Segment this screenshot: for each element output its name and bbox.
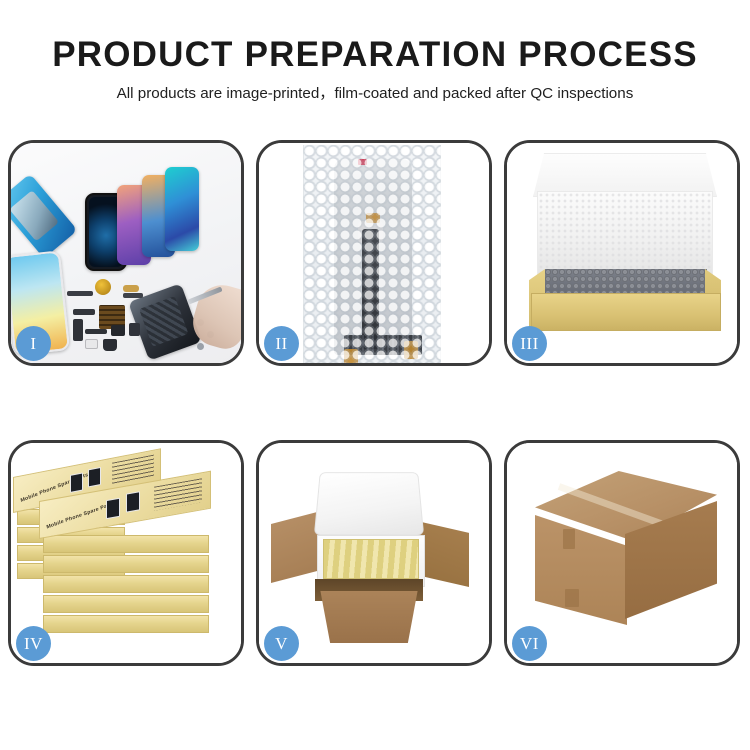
step-badge-1: I xyxy=(16,326,51,361)
kraft-box-front xyxy=(531,293,721,331)
step-panel-5: V xyxy=(256,440,492,666)
step-panel-3: III xyxy=(504,140,740,366)
lid-screen-thumb-2b xyxy=(126,491,140,512)
screw-part-c xyxy=(197,343,204,350)
page-subtitle: All products are image-printed，film-coat… xyxy=(0,84,750,104)
speaker-part xyxy=(129,323,140,336)
step-badge-3: III xyxy=(512,326,547,361)
step-panel-6: VI xyxy=(504,440,740,666)
sim-tray-part xyxy=(85,339,98,349)
bubble-texture-overlay xyxy=(303,145,441,363)
stack-box-right-3 xyxy=(43,575,209,593)
lid-screen-thumb-1a xyxy=(70,472,83,493)
white-foam-sheet-image xyxy=(537,191,713,275)
box-label-text-2: Mobile Phone Spare Parts xyxy=(46,501,115,531)
styrofoam-lid-image xyxy=(314,472,424,535)
lid-screen-thumb-2a xyxy=(106,498,120,519)
lid-spec-lines-2 xyxy=(154,478,202,510)
carton-front-panel xyxy=(315,591,423,643)
yellow-boxes-inside-image xyxy=(323,539,419,579)
gold-coil-part xyxy=(95,279,111,295)
carton-tape-bottom xyxy=(565,589,579,607)
gold-connector-part xyxy=(123,285,139,292)
step-badge-6: VI xyxy=(512,626,547,661)
stack-box-right-4 xyxy=(43,595,209,613)
lid-screen-thumb-1b xyxy=(88,467,101,488)
flex-cable-part xyxy=(67,291,93,296)
step-badge-2: II xyxy=(264,326,299,361)
ribbon-cable-part xyxy=(73,309,95,315)
product-preparation-infographic: PRODUCT PREPARATION PROCESS All products… xyxy=(0,0,750,750)
taptic-part xyxy=(103,339,117,351)
stack-box-right-5 xyxy=(43,615,209,633)
step-badge-5: V xyxy=(264,626,299,661)
step-panel-1: I xyxy=(8,140,244,366)
carton-tape-left xyxy=(563,529,575,549)
steps-grid: I xyxy=(8,140,744,680)
stack-box-right-2 xyxy=(43,555,209,573)
lid-spec-lines-1 xyxy=(112,455,154,485)
camera-module-part xyxy=(111,325,125,336)
page-title: PRODUCT PREPARATION PROCESS xyxy=(0,34,750,76)
step-panel-2: II xyxy=(256,140,492,366)
antenna-part xyxy=(123,293,143,298)
teal-phone-image xyxy=(165,167,199,251)
step-panel-4: Mobile Phone Spare Parts Mobile Phone Sp… xyxy=(8,440,244,666)
bracket-part xyxy=(73,319,83,341)
stack-box-right-1 xyxy=(43,535,209,553)
step-badge-4: IV xyxy=(16,626,51,661)
strip-part xyxy=(85,329,107,334)
foam-texture xyxy=(538,192,712,274)
header: PRODUCT PREPARATION PROCESS All products… xyxy=(0,34,750,104)
